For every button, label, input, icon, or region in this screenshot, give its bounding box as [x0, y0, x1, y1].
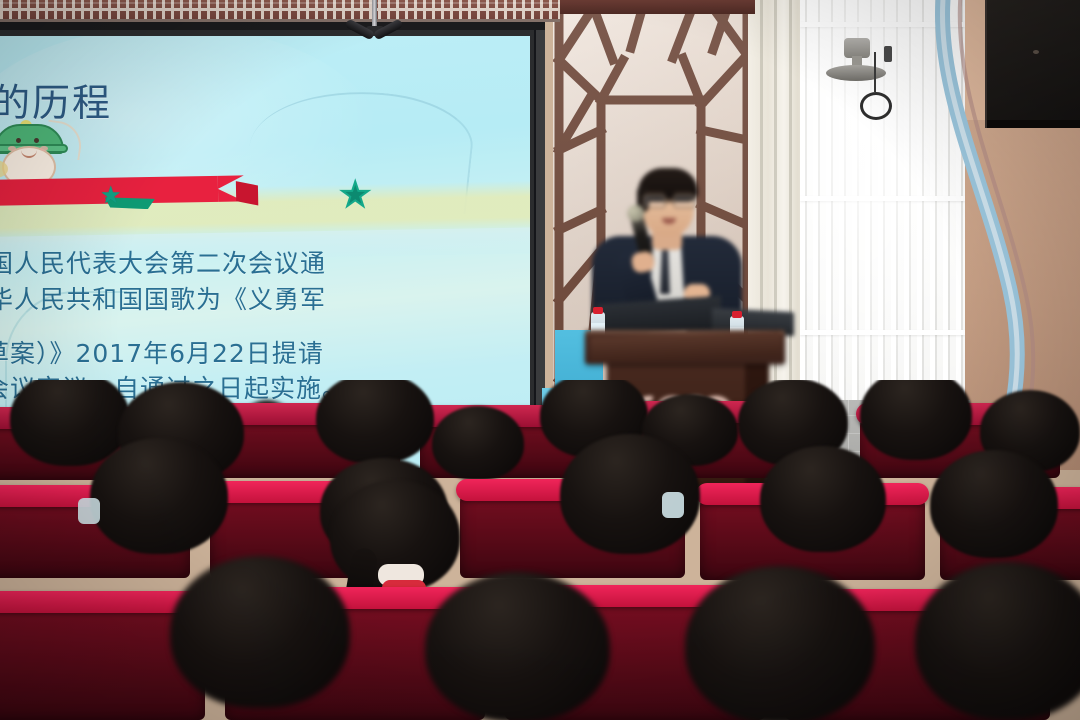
fret-border-right: [555, 0, 755, 14]
face-mask-icon: [78, 498, 100, 524]
auditorium-photo: 的历程 ★ ★ 国人民代表大会第二次会议通 华人民共和国国歌为《义勇军 草案）》…: [0, 0, 1080, 720]
fret-border: [0, 0, 560, 22]
face-mask-icon: [662, 492, 684, 518]
audience-head: [685, 566, 875, 720]
audience-head: [425, 572, 610, 720]
audience-head: [316, 380, 434, 464]
speaker-box-lip: [987, 120, 1080, 128]
audience-head: [915, 562, 1080, 720]
speaker-box-indicator: [1033, 50, 1039, 54]
audience-head: [432, 406, 524, 480]
slide-body-top: 国人民代表大会第二次会议通 华人民共和国国歌为《义勇军: [0, 246, 488, 318]
audience-head: [930, 450, 1058, 558]
glasses-icon: [642, 194, 696, 206]
audience-head: [860, 380, 972, 460]
audience-head: [760, 446, 886, 552]
audience-head: [90, 438, 228, 554]
wall-speaker-box: [985, 0, 1080, 128]
hanging-spotlight-icon: [345, 0, 405, 54]
star-icon-solid: ★: [100, 184, 122, 208]
star-icon-hollow: ★: [340, 178, 370, 212]
slide-mascot-icon: [0, 124, 74, 186]
slide-title: 的历程: [0, 72, 112, 127]
audience-area: [0, 380, 1080, 720]
wall-fan-icon: [826, 38, 886, 108]
audience-head: [170, 556, 350, 708]
